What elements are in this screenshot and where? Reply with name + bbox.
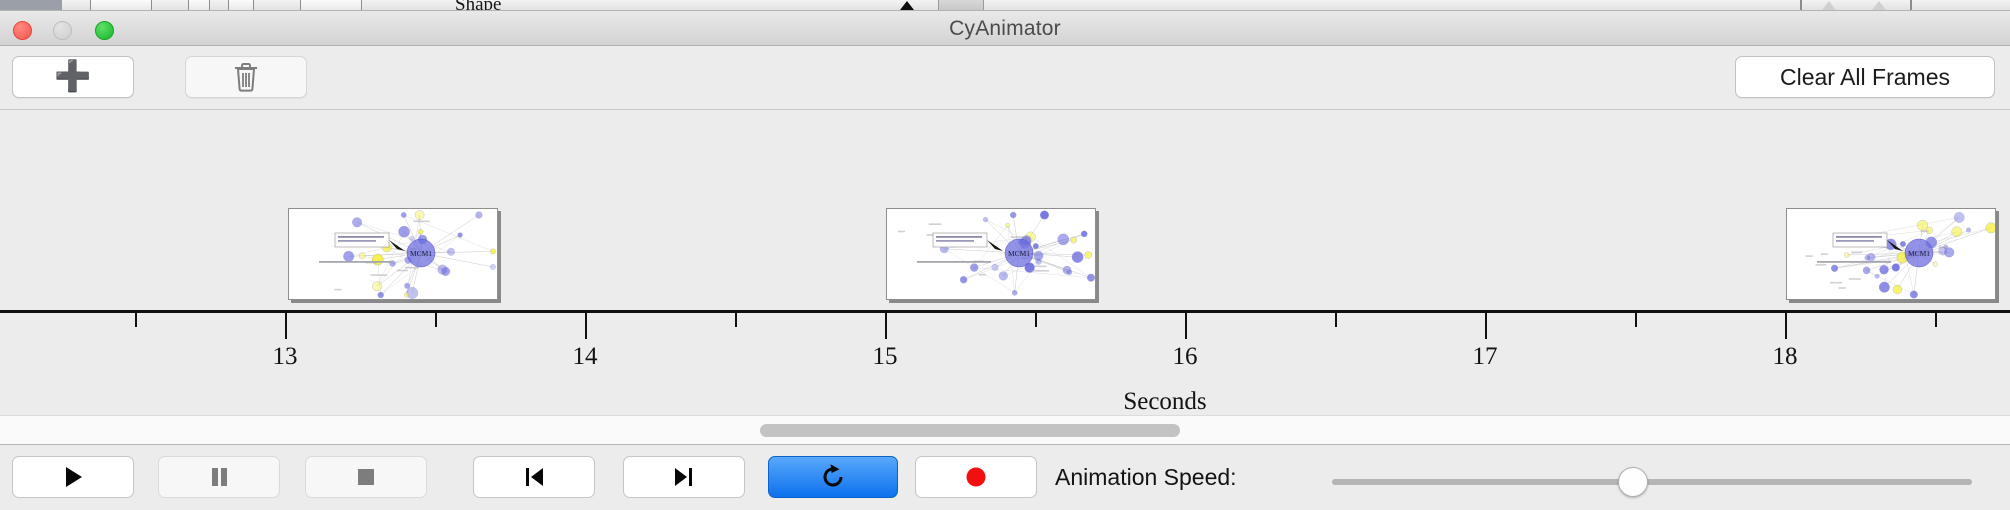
axis-tick-major bbox=[885, 313, 887, 339]
timeline-panel[interactable]: 12131415161718 MCM1MCM1MCM1 Seconds bbox=[0, 110, 2010, 415]
axis-tick-label: 17 bbox=[1473, 343, 1498, 371]
axis-tick-minor bbox=[735, 313, 737, 327]
axis-tick-label: 18 bbox=[1773, 343, 1798, 371]
window-title: CyAnimator bbox=[0, 11, 2010, 46]
axis-tick-major bbox=[1485, 313, 1487, 339]
animation-speed-label: Animation Speed: bbox=[1055, 456, 1237, 498]
clear-all-frames-label: Clear All Frames bbox=[1780, 64, 1950, 91]
loop-icon bbox=[818, 462, 848, 492]
add-frame-button[interactable]: ➕ bbox=[12, 56, 134, 98]
stop-button[interactable] bbox=[305, 456, 427, 498]
record-icon bbox=[963, 464, 989, 490]
svg-text:MCM1: MCM1 bbox=[410, 249, 432, 258]
stop-icon bbox=[353, 464, 379, 490]
frame-thumbnail-2[interactable]: MCM1 bbox=[886, 208, 1096, 300]
background-window-strip: Shape bbox=[0, 0, 2010, 11]
playback-bar: Animation Speed: bbox=[0, 446, 2010, 510]
timeline-scrollbar-thumb[interactable] bbox=[760, 424, 1180, 437]
axis-tick-minor bbox=[1035, 313, 1037, 327]
timeline-axis-title: Seconds bbox=[0, 388, 2010, 415]
skip-end-icon bbox=[671, 464, 697, 490]
timeline-axis-line bbox=[0, 310, 2010, 313]
axis-tick-minor bbox=[1335, 313, 1337, 327]
axis-tick-major bbox=[1185, 313, 1187, 339]
clear-all-frames-button[interactable]: Clear All Frames bbox=[1735, 56, 1995, 98]
axis-tick-major bbox=[285, 313, 287, 339]
pause-button[interactable] bbox=[158, 456, 280, 498]
pause-icon bbox=[206, 464, 232, 490]
toolbar: ➕ Clear All Frames bbox=[0, 46, 2010, 110]
frame-thumbnail-3[interactable]: MCM1 bbox=[1786, 208, 1996, 300]
play-icon bbox=[60, 464, 86, 490]
skip-start-icon bbox=[521, 464, 547, 490]
trash-icon bbox=[233, 62, 259, 92]
frame-thumbnail-1[interactable]: MCM1 bbox=[288, 208, 498, 300]
loop-button[interactable] bbox=[768, 456, 898, 498]
play-button[interactable] bbox=[12, 456, 134, 498]
plus-icon: ➕ bbox=[54, 62, 91, 92]
timeline-scrollbar-track[interactable] bbox=[0, 415, 2010, 445]
title-bar: CyAnimator bbox=[0, 11, 2010, 46]
axis-tick-label: 16 bbox=[1173, 343, 1198, 371]
record-button[interactable] bbox=[915, 456, 1037, 498]
animation-speed-slider-thumb[interactable] bbox=[1618, 467, 1648, 497]
axis-tick-minor bbox=[1935, 313, 1937, 327]
axis-tick-minor bbox=[1635, 313, 1637, 327]
delete-frame-button[interactable] bbox=[185, 56, 307, 98]
axis-tick-label: 14 bbox=[573, 343, 598, 371]
animation-speed-slider-track[interactable] bbox=[1332, 479, 1972, 485]
axis-tick-major bbox=[1785, 313, 1787, 339]
axis-tick-label: 15 bbox=[873, 343, 898, 371]
background-window-label: Shape bbox=[455, 0, 501, 11]
cyanimator-window: Shape CyAnimator ➕ Clear All Frames bbox=[0, 0, 2010, 510]
svg-text:MCM1: MCM1 bbox=[1908, 249, 1930, 258]
axis-tick-minor bbox=[135, 313, 137, 327]
skip-to-end-button[interactable] bbox=[623, 456, 745, 498]
svg-text:MCM1: MCM1 bbox=[1008, 249, 1030, 258]
skip-to-start-button[interactable] bbox=[473, 456, 595, 498]
axis-tick-minor bbox=[435, 313, 437, 327]
axis-tick-label: 13 bbox=[273, 343, 298, 371]
axis-tick-major bbox=[585, 313, 587, 339]
